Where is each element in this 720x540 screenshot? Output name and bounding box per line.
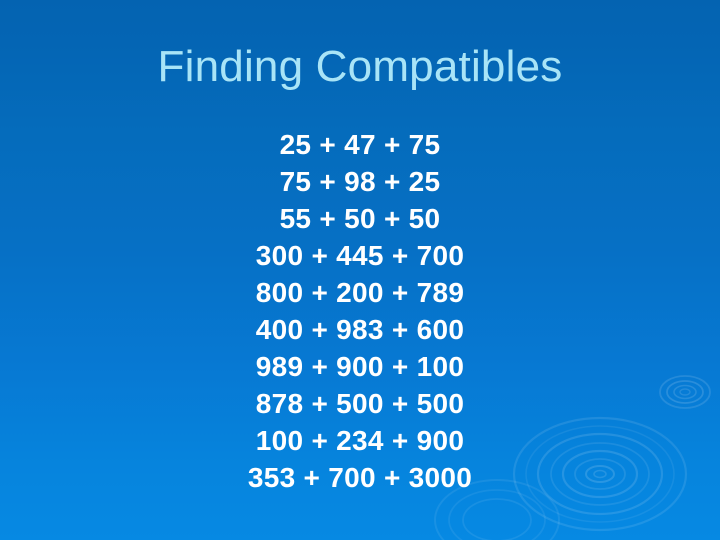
presentation-slide: Finding Compatibles 25 + 47 + 75 75 + 98… — [0, 0, 720, 540]
body-line: 989 + 900 + 100 — [0, 348, 720, 385]
body-line: 300 + 445 + 700 — [0, 237, 720, 274]
body-line: 878 + 500 + 500 — [0, 385, 720, 422]
body-line: 55 + 50 + 50 — [0, 200, 720, 237]
body-line: 100 + 234 + 900 — [0, 422, 720, 459]
body-line: 800 + 200 + 789 — [0, 274, 720, 311]
body-line: 400 + 983 + 600 — [0, 311, 720, 348]
slide-title: Finding Compatibles — [0, 42, 720, 91]
body-line: 75 + 98 + 25 — [0, 163, 720, 200]
slide-body-list: 25 + 47 + 75 75 + 98 + 25 55 + 50 + 50 3… — [0, 126, 720, 496]
body-line: 25 + 47 + 75 — [0, 126, 720, 163]
body-line: 353 + 700 + 3000 — [0, 459, 720, 496]
